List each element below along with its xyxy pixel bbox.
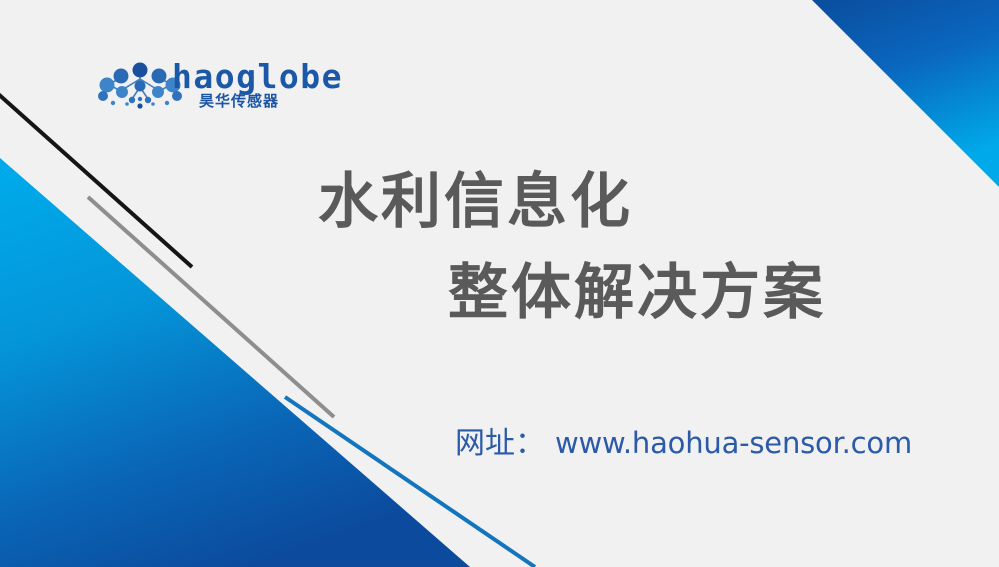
title-line-1: 水利信息化 [318,172,633,234]
logo-wordmark: haoglobe [172,60,343,93]
haoglobe-network-dots-icon [96,59,184,111]
website-url[interactable]: www.haohua-sensor.com [555,426,912,460]
logo-subtext: 昊华传感器 [199,94,279,109]
website-row: 网址： www.haohua-sensor.com [455,418,912,462]
website-label: 网址： [455,418,545,462]
top-right-blue-triangle [812,0,999,187]
title-line-2: 整体解决方案 [448,263,826,325]
slide-canvas: haoglobe 昊华传感器 水利信息化 整体解决方案 网址： www.haoh… [0,0,999,567]
company-logo[interactable]: haoglobe 昊华传感器 [96,57,326,119]
